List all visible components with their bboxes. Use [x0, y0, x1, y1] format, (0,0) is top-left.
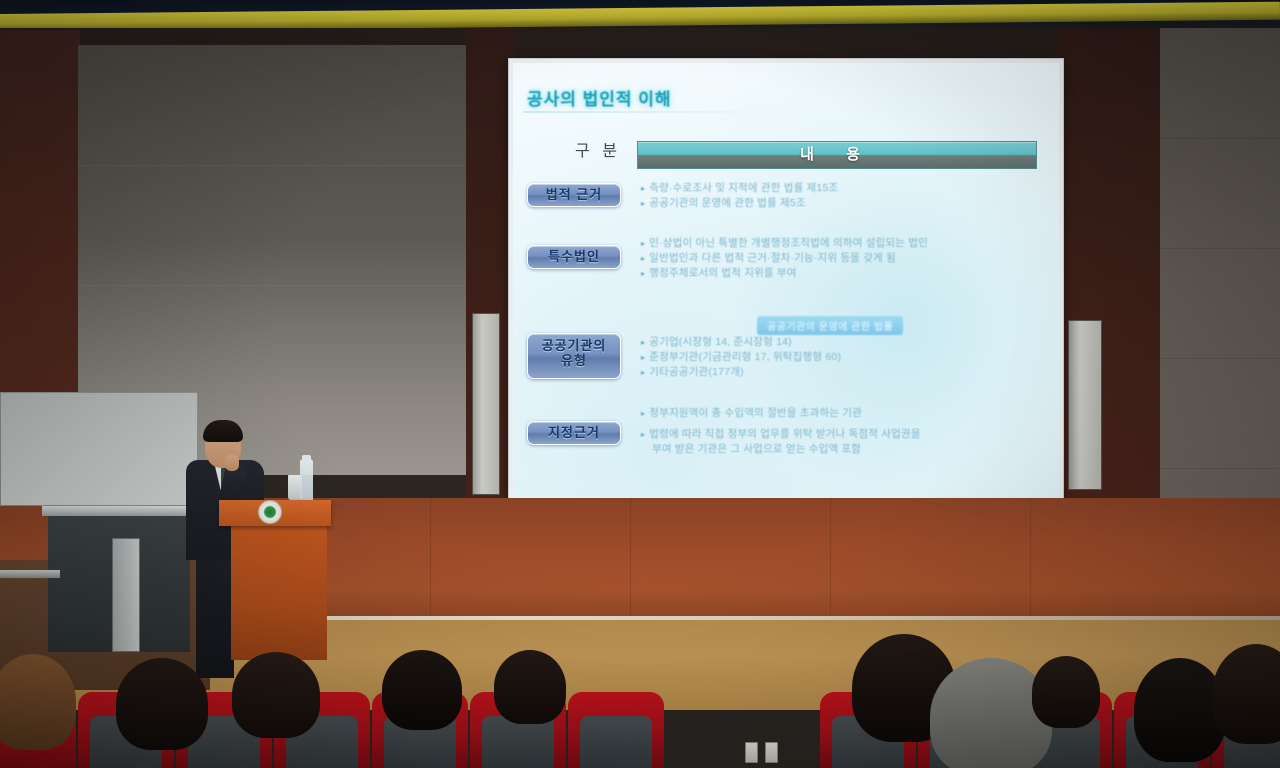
bullet: 공공기관의 운영에 관한 법률 제5조 — [641, 196, 1045, 211]
audience-head — [382, 650, 462, 730]
speaker-hair — [203, 420, 243, 442]
bullet-continuation: 부여 받은 기관은 그 사업으로 얻는 수입액 포함 — [641, 442, 1045, 457]
bullet: 정부지원액이 총 수입액의 절반을 초과하는 기관 — [641, 406, 1045, 421]
row-label-designation-basis: 지정근거 — [527, 421, 621, 445]
audience-head — [232, 652, 320, 738]
right-wall-panel — [1068, 320, 1102, 490]
wall-rail — [0, 570, 60, 578]
slide-note-box: 공공기관의 운영에 관한 법률 — [757, 316, 903, 335]
water-bottle — [300, 459, 313, 503]
bullet: 법령에 따라 직접 정부의 업무를 위탁 받거나 독점적 사업권을 — [641, 427, 1045, 442]
podium-body — [231, 520, 327, 660]
bullet: 일반법인과 다른 법적 근거·절차·기능·지위 등을 갖게 됨 — [641, 251, 1045, 266]
bullet: 측량·수로조사 및 지적에 관한 법률 제15조 — [641, 181, 1045, 196]
row-label-legal-basis: 법적 근거 — [527, 183, 621, 207]
row-bullets-legal-basis: 측량·수로조사 및 지적에 관한 법률 제15조 공공기관의 운영에 관한 법률… — [641, 181, 1045, 211]
audience-head — [1032, 656, 1100, 728]
bullet: 준정부기관(기금관리형 17, 위탁집행형 60) — [641, 350, 1045, 365]
water-bottle-cap — [302, 455, 311, 461]
speaker-hand-with-microphone — [225, 455, 239, 471]
left-wall-panel — [472, 313, 500, 495]
lecture-hall-photo: 공사의 법인적 이해 구 분 내 용 법적 근거 측량·수로조사 및 지적에 관… — [0, 0, 1280, 768]
whiteboard — [0, 392, 198, 506]
left-dark-wall — [0, 30, 80, 430]
title-divider — [523, 111, 813, 113]
bullet: 기타공공기관(177개) — [641, 365, 1045, 380]
far-right-wall — [1160, 28, 1280, 528]
lectern-desk-panel — [112, 538, 140, 652]
content-column-header: 내 용 — [637, 141, 1037, 169]
audience-head — [930, 658, 1052, 768]
content-column-header-label: 내 용 — [638, 142, 1036, 168]
audience-head — [0, 654, 76, 750]
row-bullets-designation-basis: 정부지원액이 총 수입액의 절반을 초과하는 기관 법령에 따라 직접 정부의 … — [641, 406, 1045, 457]
audience-seating — [0, 648, 1280, 768]
seat — [568, 692, 664, 768]
audience-head — [494, 650, 566, 724]
slide-title: 공사의 법인적 이해 — [527, 85, 672, 110]
podium-emblem-icon — [258, 500, 282, 524]
row-bullets-special-corporation: 민·상법이 아닌 특별한 개별행정조직법에 의하여 설립되는 법인 일반법인과 … — [641, 236, 1045, 281]
audience-head — [116, 658, 208, 750]
row-label-special-corporation: 특수법인 — [527, 245, 621, 269]
projection-screen: 공사의 법인적 이해 구 분 내 용 법적 근거 측량·수로조사 및 지적에 관… — [508, 58, 1064, 502]
bullet: 공기업(시장형 14, 준시장형 14) — [641, 335, 1045, 350]
bullet: 민·상법이 아닌 특별한 개별행정조직법에 의하여 설립되는 법인 — [641, 236, 1045, 251]
row-label-institution-types: 공공기관의 유형 — [527, 333, 621, 379]
lectern-desk-top — [42, 506, 198, 516]
row-bullets-institution-types: 공기업(시장형 14, 준시장형 14) 준정부기관(기금관리형 17, 위탁집… — [641, 335, 1045, 380]
presentation-slide: 공사의 법인적 이해 구 분 내 용 법적 근거 측량·수로조사 및 지적에 관… — [513, 63, 1059, 497]
bullet: 행정주체로서의 법적 지위를 부여 — [641, 266, 1045, 281]
audience-head — [1212, 644, 1280, 744]
